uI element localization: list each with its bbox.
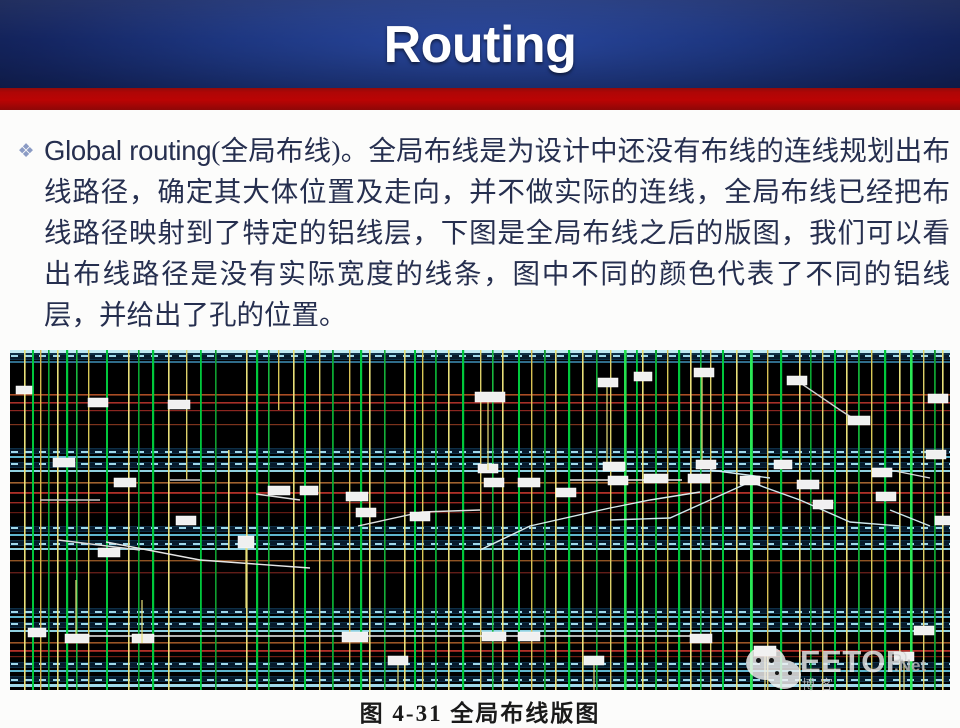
- paragraph-lead-en: Global routing: [44, 135, 211, 166]
- paragraph-lead-cn: (全局布线)。: [211, 135, 368, 166]
- slide-header: Routing: [0, 0, 960, 88]
- body-paragraph: Global routing(全局布线)。全局布线是为设计中还没有布线的连线规划…: [44, 130, 950, 335]
- slide-root: Routing ❖ Global routing(全局布线)。全局布线是为设计中…: [0, 0, 960, 720]
- header-accent-bar: [0, 88, 960, 110]
- bullet-diamond-icon: ❖: [14, 140, 38, 164]
- body-content: ❖ Global routing(全局布线)。全局布线是为设计中还没有布线的连线…: [0, 126, 960, 341]
- routing-layout-svg: [10, 350, 950, 690]
- page-title: Routing: [0, 17, 960, 73]
- figure-caption: 图 4-31 全局布线版图: [0, 694, 960, 728]
- routing-layout-figure: [10, 350, 950, 690]
